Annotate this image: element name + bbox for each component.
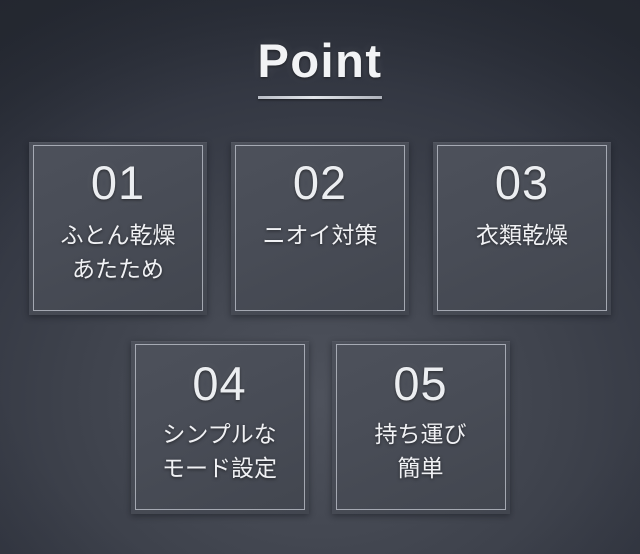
feature-card-label: ニオイ対策 — [255, 218, 386, 252]
feature-card-label: 持ち運び 簡単 — [367, 417, 475, 485]
feature-card-03[interactable]: 03 衣類乾燥 — [433, 142, 611, 315]
feature-card-row-bottom: 04 シンプルな モード設定 05 持ち運び 簡単 — [0, 341, 640, 514]
feature-card-02[interactable]: 02 ニオイ対策 — [231, 142, 409, 315]
feature-card-number: 03 — [495, 156, 549, 210]
feature-card-04[interactable]: 04 シンプルな モード設定 — [131, 341, 309, 514]
page-title-block: Point — [0, 36, 640, 99]
feature-card-number: 05 — [393, 357, 447, 411]
slide-canvas: Point 01 ふとん乾燥 あたため 02 ニオイ対策 03 衣類乾燥 04 … — [0, 0, 640, 554]
feature-card-row-top: 01 ふとん乾燥 あたため 02 ニオイ対策 03 衣類乾燥 — [0, 142, 640, 315]
feature-card-05[interactable]: 05 持ち運び 簡単 — [332, 341, 510, 514]
feature-card-label: ふとん乾燥 あたため — [53, 218, 184, 286]
page-title: Point — [258, 36, 383, 85]
feature-card-label: シンプルな モード設定 — [154, 417, 285, 485]
feature-card-label: 衣類乾燥 — [468, 218, 576, 252]
feature-card-number: 04 — [192, 357, 246, 411]
feature-card-01[interactable]: 01 ふとん乾燥 あたため — [29, 142, 207, 315]
feature-card-number: 01 — [91, 156, 145, 210]
feature-card-number: 02 — [293, 156, 347, 210]
title-underline-divider — [258, 96, 382, 99]
